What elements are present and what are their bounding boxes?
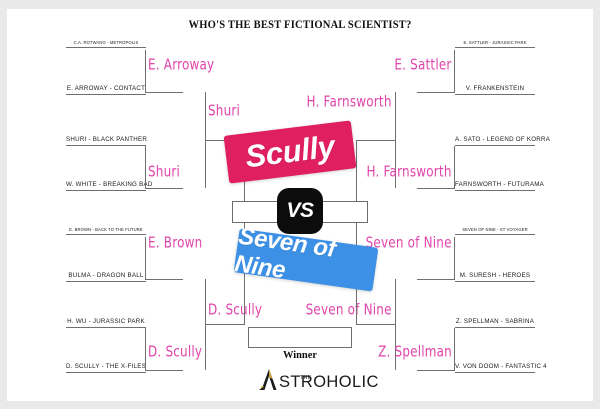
winner-left-r3-1: Shuri — [208, 101, 240, 119]
connector-left-semi-bottom-out — [205, 324, 244, 325]
finalist-banner-top: Scully — [224, 120, 357, 183]
connector-right-4 — [454, 328, 455, 371]
winner-left-r2-3: E. Brown — [148, 233, 202, 251]
logo-word-text: STROHOLIC — [279, 373, 379, 391]
seed-left-5: E. BROWN - BACK TO THE FUTURE — [66, 227, 146, 235]
seed-left-8: D. SCULLY - THE X-FILES — [66, 363, 146, 373]
connector-left-4b — [145, 370, 183, 371]
seed-left-4: W. WHITE - BREAKING BAD — [66, 181, 146, 191]
winner-right-r2-4: Z. Spellman — [378, 342, 452, 360]
seed-right-3: A. SATO - LEGEND OF KORRA — [455, 136, 535, 146]
seed-right-8: V. VON DOOM - FANTASTIC 4 — [455, 363, 535, 373]
connector-center-right — [356, 140, 357, 325]
winner-right-r2-1: E. Sattler — [395, 55, 452, 73]
connector-left-4 — [145, 328, 146, 371]
winner-label: Winner — [251, 349, 350, 361]
page-edge-top — [0, 0, 600, 9]
connector-right-3 — [454, 237, 455, 280]
seed-left-3: SHURI - BLACK PANTHER — [66, 136, 146, 146]
winner-right-r2-2: H. Farnsworth — [367, 162, 452, 180]
seed-right-6: M. SURESH - HEROES — [455, 272, 535, 282]
seed-right-7: Z. SPELLMAN - SABRINA — [455, 318, 535, 328]
connector-right-semi-top-out — [357, 140, 396, 141]
connector-right-1b — [417, 92, 455, 93]
connector-right-4b — [417, 370, 455, 371]
seed-right-1: E. SATTLER - JURASSIC PARK — [455, 40, 535, 48]
connector-left-3 — [145, 237, 146, 280]
connector-right-2 — [454, 146, 455, 189]
astroholic-a-icon — [258, 368, 280, 392]
winner-left-r3-2: D. Scully — [208, 300, 262, 318]
connector-left-2 — [145, 146, 146, 189]
seed-right-4: FARNSWORTH - FUTURAMA — [455, 181, 535, 191]
winner-left-r2-2: Shuri — [148, 162, 180, 180]
page-edge-bottom — [0, 401, 600, 409]
connector-left-1b — [145, 92, 183, 93]
seed-left-2: E. ARROWAY - CONTACT — [66, 85, 146, 95]
winner-right-r3-2: Seven of Nine — [306, 300, 392, 318]
winner-slot[interactable] — [248, 327, 352, 348]
connector-left-2b — [145, 188, 183, 189]
finalist-banner-bottom: Seven of Nine — [234, 228, 379, 291]
logo-the-text: THE — [300, 375, 312, 381]
bracket-poster: WHO'S THE BEST FICTIONAL SCIENTIST? C.A.… — [0, 0, 600, 409]
winner-right-r3-1: H. Farnsworth — [307, 92, 392, 110]
seed-right-2: V. FRANKENSTEIN — [455, 85, 535, 95]
connector-right-3b — [417, 279, 455, 280]
page-edge-left — [0, 0, 7, 409]
connector-right-2b — [417, 188, 455, 189]
seed-left-6: BULMA - DRAGON BALL — [66, 272, 146, 282]
connector-left-3b — [145, 279, 183, 280]
connector-right-semi-bottom-out — [357, 324, 396, 325]
winner-left-r2-4: D. Scully — [148, 342, 202, 360]
winner-left-r2-1: E. Arroway — [148, 55, 214, 73]
astroholic-logo: THE STROHOLIC — [258, 368, 379, 392]
page-edge-right — [593, 0, 600, 409]
seed-left-7: H. WU - JURASSIC PARK — [66, 318, 146, 328]
seed-right-5: SEVEN OF NINE - ST VOYAGER — [455, 227, 535, 235]
seed-left-1: C.A. ROTWANG - METROPOLIS — [66, 40, 146, 48]
connector-right-1 — [454, 50, 455, 93]
page-title: WHO'S THE BEST FICTIONAL SCIENTIST? — [24, 19, 576, 31]
vs-badge: VS — [277, 188, 323, 234]
connector-left-1 — [145, 50, 146, 93]
